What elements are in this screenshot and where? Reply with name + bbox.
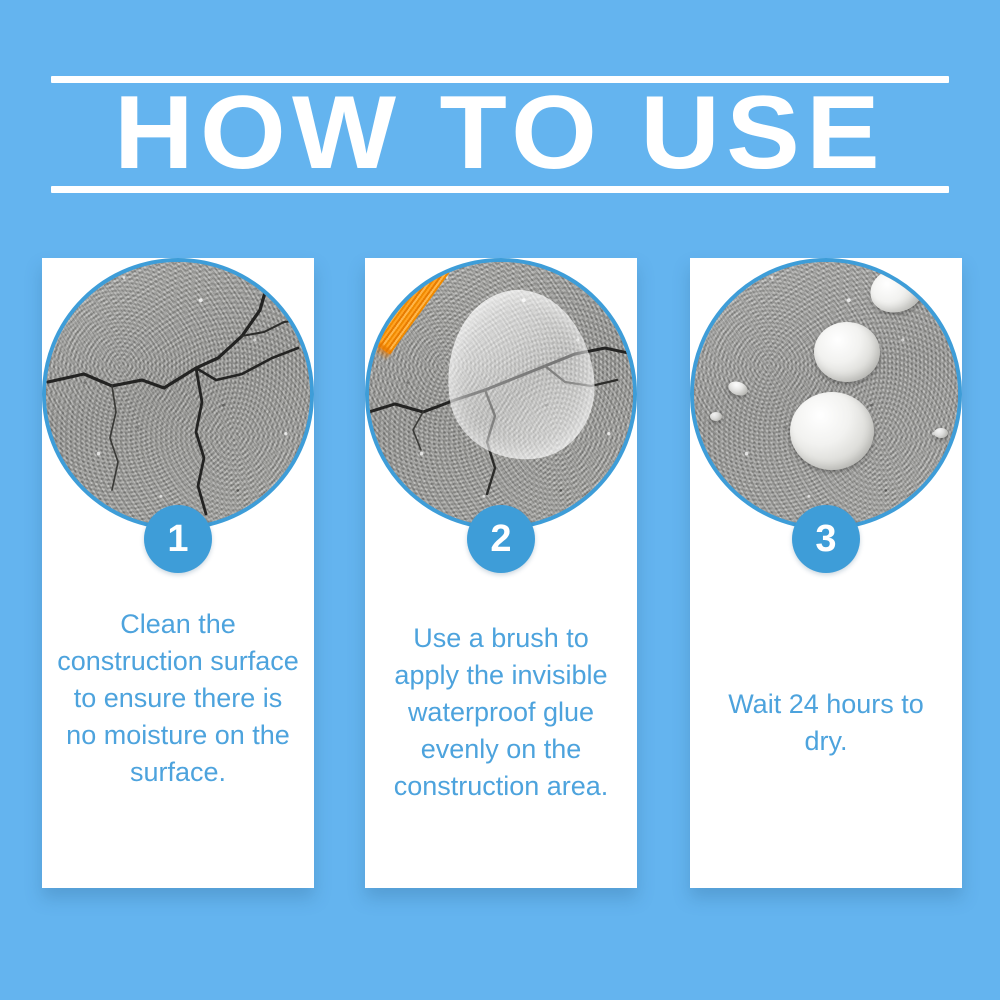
how-to-use-infographic: HOW TO USE 1 Clean the — [0, 0, 1000, 1000]
step-text-1: Clean the construction surface to ensure… — [56, 606, 300, 791]
step-card-1: 1 Clean the construction surface to ensu… — [42, 258, 314, 888]
step-image-3 — [690, 258, 962, 530]
water-droplet-icon — [710, 412, 722, 421]
step-text-2: Use a brush to apply the invisible water… — [379, 620, 623, 805]
step-badge-3: 3 — [792, 505, 860, 573]
photo-clip — [369, 262, 633, 526]
step-badge-1: 1 — [144, 505, 212, 573]
crack-lines-icon — [46, 262, 310, 526]
step-card-2: 2 Use a brush to apply the invisible wat… — [365, 258, 637, 888]
water-droplet-icon — [934, 428, 948, 438]
step-text-3: Wait 24 hours to dry. — [704, 686, 948, 760]
step-card-3: 3 Wait 24 hours to dry. — [690, 258, 962, 888]
water-droplet-icon — [790, 392, 874, 470]
step-badge-2: 2 — [467, 505, 535, 573]
step-image-2 — [365, 258, 637, 530]
photo-clip — [46, 262, 310, 526]
steps-container: 1 Clean the construction surface to ensu… — [0, 0, 1000, 1000]
water-droplet-icon — [814, 322, 880, 382]
step-image-1 — [42, 258, 314, 530]
photo-clip — [694, 262, 958, 526]
